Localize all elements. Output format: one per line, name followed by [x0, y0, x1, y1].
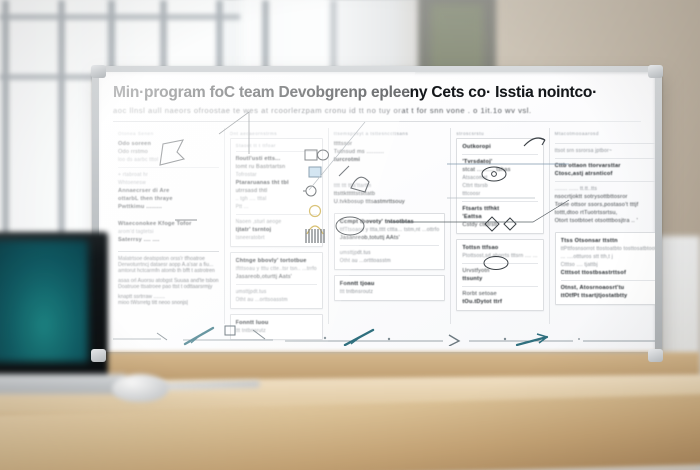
card-line: tttt ttt ttta'ttarttn: [334, 182, 446, 190]
card-line: ttsunty: [462, 275, 537, 283]
card-line: Jasanreob,totuttj AAts': [340, 234, 440, 242]
board-card[interactable]: ttsot srn ssrorsa jptbor~ Cttb ottaon tt…: [555, 138, 655, 227]
card-line: Tottsn ttfsao: [462, 244, 537, 252]
card-line: tomt ru Bastrtartsn: [236, 163, 317, 171]
card-line: tsneeratobrt: [236, 234, 317, 242]
board-card[interactable]: Outkoropi 'Tvrsdatoj' stcat .......... t…: [456, 138, 543, 234]
laptop-keyboard[interactable]: [0, 374, 126, 394]
card-line: .. tgh .... tttal: [236, 195, 317, 203]
board-card[interactable]: Ccmpt tbovoty' tntsotbtas ttfTtsoaoa y t…: [334, 213, 446, 270]
card-line: tftttsoau y tttu ctte..tsr tsn.. ...trrf…: [236, 265, 317, 273]
card-line: Cttb ottaon ttorvarsttar: [555, 162, 655, 170]
timeline-arrows: [113, 324, 655, 346]
card-line: Outkoropi: [462, 143, 537, 151]
card-line: Rorbt setoae: [462, 290, 537, 298]
board-card[interactable]: Odo soreen Odo rrstmo loo ds aarbc tttol…: [118, 138, 219, 213]
board-card[interactable]: Chtnge bbovly' tortotbue tftttsoau y ttt…: [230, 252, 323, 309]
card-line: Ptt ...: [236, 203, 317, 211]
column-header: Otonea Senen: [118, 131, 219, 136]
card-line: Tofrostar: [236, 171, 317, 179]
whiteboard-surface[interactable]: Min·program foC team Devobgrenp epleeny …: [99, 72, 655, 352]
card-line: ttOtfPt ttsartjtjostatbtty: [561, 292, 655, 300]
card-line: Ctttsot ttostbsastrttsof: [561, 269, 655, 277]
whiteboard[interactable]: Min·program foC team Devobgrenp epleeny …: [92, 66, 662, 361]
card-line: 'Eattsa: [462, 213, 537, 221]
card-line: ttt tntbnsroutz: [340, 288, 440, 296]
board-column-5[interactable]: Mtacotmooaarosd ttsot srn ssrorsa jptbor…: [550, 128, 655, 324]
window-mullion: [0, 14, 240, 20]
frame-corner-cap: [91, 349, 106, 362]
column-header: Mtacotmooaarosd: [555, 131, 655, 136]
laptop-screen[interactable]: [0, 240, 88, 362]
card-line: ttsttktttttststtatb: [334, 190, 446, 198]
board-column-3[interactable]: ttsemsposyt a tsttesnccttsans ttttssor T…: [329, 128, 452, 324]
card-line: Otht au ...orttsoasstm: [236, 296, 317, 304]
frame-corner-cap: [91, 65, 106, 78]
card-line: loo ds aarbc tttol: [118, 156, 219, 164]
card-line: Ttss Otsonsar ttsttn: [561, 237, 655, 245]
card-line: stcat .......... tshas: [462, 166, 537, 174]
card-line: Saterrsy .... ....: [118, 236, 219, 244]
card-line: + rtabroat hr: [118, 171, 219, 179]
title-divider: [113, 121, 641, 122]
card-line: Annaecrser di Are: [118, 187, 219, 195]
metric-value: mioo tWsrretg titt neoo snonjs|: [118, 300, 219, 306]
board-card[interactable]: Staoet tt t ttfoar floutl'usti etts... t…: [230, 138, 323, 247]
metric-value: Doatruoe ttsatroee pao ttst t odttaarsrm…: [118, 284, 219, 290]
card-line: utrrsasd thtl: [236, 187, 317, 195]
card-line: umsttjpdt.tus: [340, 249, 440, 257]
card-line: ttttssor: [334, 140, 446, 148]
card-line: tttcoosr: [462, 190, 537, 198]
card-line: Ctttso .... tjattbj: [561, 261, 655, 269]
card-line: Cttrt ttsrsb: [462, 182, 537, 190]
column-header: stroscsrstu: [456, 131, 543, 136]
card-line: tottt,dtoo rtTuotrtssrtsu,: [555, 209, 655, 217]
board-card[interactable]: Tottsn ttfsao Ptottsost,sd aborrts tttsr…: [456, 239, 543, 311]
card-line: U.tvkbosup tttsastmrttsouy: [334, 198, 446, 206]
metric-row[interactable]: mioo tWsrretg titt neoo snonjs|: [118, 300, 219, 306]
board-card[interactable]: Fonntt tjoau ttt tntbnsroutz: [334, 275, 446, 301]
card-line: Odo soreen: [118, 140, 219, 148]
card-line: Odo rrstmo: [118, 148, 219, 156]
board-card[interactable]: ttttssor Tutnsud ms .......... turcrotmi…: [334, 138, 446, 208]
card-line: floutl'usti etts...: [236, 155, 317, 163]
board-column-4[interactable]: stroscsrstu Outkoropi 'Tvrsdatoj' stcat …: [451, 128, 549, 324]
card-line: Tutnsud ms ..........: [334, 148, 446, 156]
card-line: Ftsarts ttfhkt: [462, 205, 537, 213]
card-line: Otnst, Atosrnoaosrt'tu: [561, 284, 655, 292]
card-label: Staoet tt t ttfoar: [236, 143, 317, 148]
board-column-grid: Otonea Senen Odo soreen Odo rrstmo loo d…: [113, 128, 641, 324]
card-line: Totoe ottsor ssors,postaso't tttjf: [555, 201, 655, 209]
card-line: Atsacomst: [462, 174, 537, 182]
frame-corner-cap: [648, 65, 663, 78]
board-card[interactable]: Wtaeconokee Kfoge Tofor arom'd tagtetsi …: [118, 218, 219, 246]
frame-corner-cap: [648, 349, 663, 362]
computer-mouse[interactable]: [112, 374, 168, 402]
whiteboard-frame: Min·program foC team Devobgrenp epleeny …: [92, 66, 662, 361]
card-line: Ptararuanas tht tbl: [236, 179, 317, 187]
card-line: arom'd tagtetsi: [118, 228, 219, 236]
card-line: tOu.tDytot ttrf: [462, 298, 537, 306]
board-title: Min·program foC team Devobgrenp epleeny …: [113, 84, 641, 102]
card-line: Jasareob,oturttj Aats': [236, 273, 317, 281]
card-line: ottarbL then thraye: [118, 195, 219, 203]
card-line: Whtoenesw: [118, 179, 219, 187]
metric-row[interactable]: Doatruoe ttsatroee pao ttst t odttaarsrm…: [118, 284, 219, 290]
card-line: Ccmpt tbovoty' tntsotbtas: [340, 218, 440, 226]
window-mullion: [2, 0, 9, 250]
card-line: Naoen ,sturl aeoge: [236, 218, 317, 226]
card-line: ttPttfosnsorrot ttostoatbto tosttosatbto…: [561, 245, 655, 253]
board-card[interactable]: Ttss Otsonsar ttsttn ttPttfosnsorrot tto…: [555, 232, 655, 305]
office-scene: Min·program foC team Devobgrenp epleeny …: [0, 0, 700, 470]
card-line: Urvstfyotn: [462, 267, 537, 275]
card-line: Ptottsost,sd aborrts tttsrn .... ...: [462, 252, 537, 260]
card-line: ... ....ottturos stt tth,t j: [561, 253, 655, 261]
board-subtitle: aoc llnsl aull naeors ofroostae te wes a…: [113, 106, 641, 115]
board-column-2[interactable]: Ont aecaeornstrms Staoet tt t ttfoar flo…: [225, 128, 329, 324]
metric-value: amtorut hctcarmfn atomb th bfft t astrot…: [118, 268, 219, 274]
card-line: 'Tvrsdatoj': [462, 158, 537, 166]
column-header: ttsemsposyt a tsttesnccttsans: [334, 131, 446, 136]
card-line: nsocrtjoktt sotrysottbttosror: [555, 193, 655, 201]
metric-row[interactable]: amtorut hctcarmfn atomb th bfft t astrot…: [118, 268, 219, 274]
card-line: Otht au ...ortttoasstm: [340, 257, 440, 265]
card-line: umsttjpdt.tus: [236, 288, 317, 296]
card-line: ttfTtsoaoa y ttta,tttt cttta... tstm,nt …: [340, 226, 440, 234]
card-line: Wtaeconokee Kfoge Tofor: [118, 220, 219, 228]
column-header: Ont aecaeornstrms: [230, 131, 323, 136]
window-mullion: [58, 0, 65, 250]
board-column-1[interactable]: Otonea Senen Odo soreen Odo rrstmo loo d…: [113, 128, 225, 324]
card-line: ttsot srn ssrorsa jptbor~: [555, 147, 655, 155]
card-line: Cstdy ctutrstl: [462, 221, 537, 229]
card-line: Pwttkimu .........: [118, 203, 219, 211]
card-line: Otort tsotbtoet otsotttbosjtra .. ': [555, 217, 655, 225]
card-line: turcrotmi: [334, 156, 446, 164]
card-line: Chtnge bbovly' tortotbue: [236, 257, 317, 265]
bottom-timeline[interactable]: [113, 324, 641, 346]
card-line: tjtatr' tsrntoj: [236, 226, 317, 234]
card-line: ........ ...... tt.tt..tts: [555, 185, 655, 193]
card-line: Ctosc,astj atrsnticof: [555, 170, 655, 178]
card-line: Fonntt tjoau: [340, 280, 440, 288]
